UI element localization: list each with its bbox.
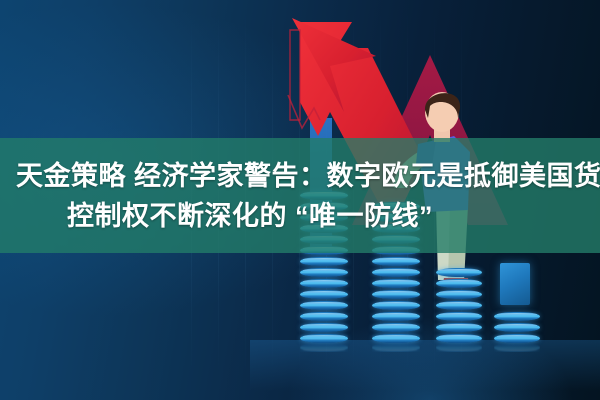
coin-stack-3-reflection xyxy=(436,330,482,352)
arrow-outline-echo xyxy=(290,30,300,120)
bank-card-bar xyxy=(500,263,530,305)
coin-stack-1-reflection xyxy=(300,319,348,352)
caption-text-block: 天金策略 经济学家警告：数字欧元是抵御美国货币 控制权不断深化的 “唯一防线” xyxy=(0,138,600,253)
news-banner-image: 天金策略 经济学家警告：数字欧元是抵御美国货币 控制权不断深化的 “唯一防线” xyxy=(0,0,600,400)
coin-stack-2-reflection xyxy=(372,319,420,352)
caption-line-1: 天金策略 经济学家警告：数字欧元是抵御美国货币 xyxy=(8,159,592,193)
coin-stack-4-reflection xyxy=(494,330,540,352)
caption-line-2: 控制权不断深化的 “唯一防线” xyxy=(8,199,592,233)
